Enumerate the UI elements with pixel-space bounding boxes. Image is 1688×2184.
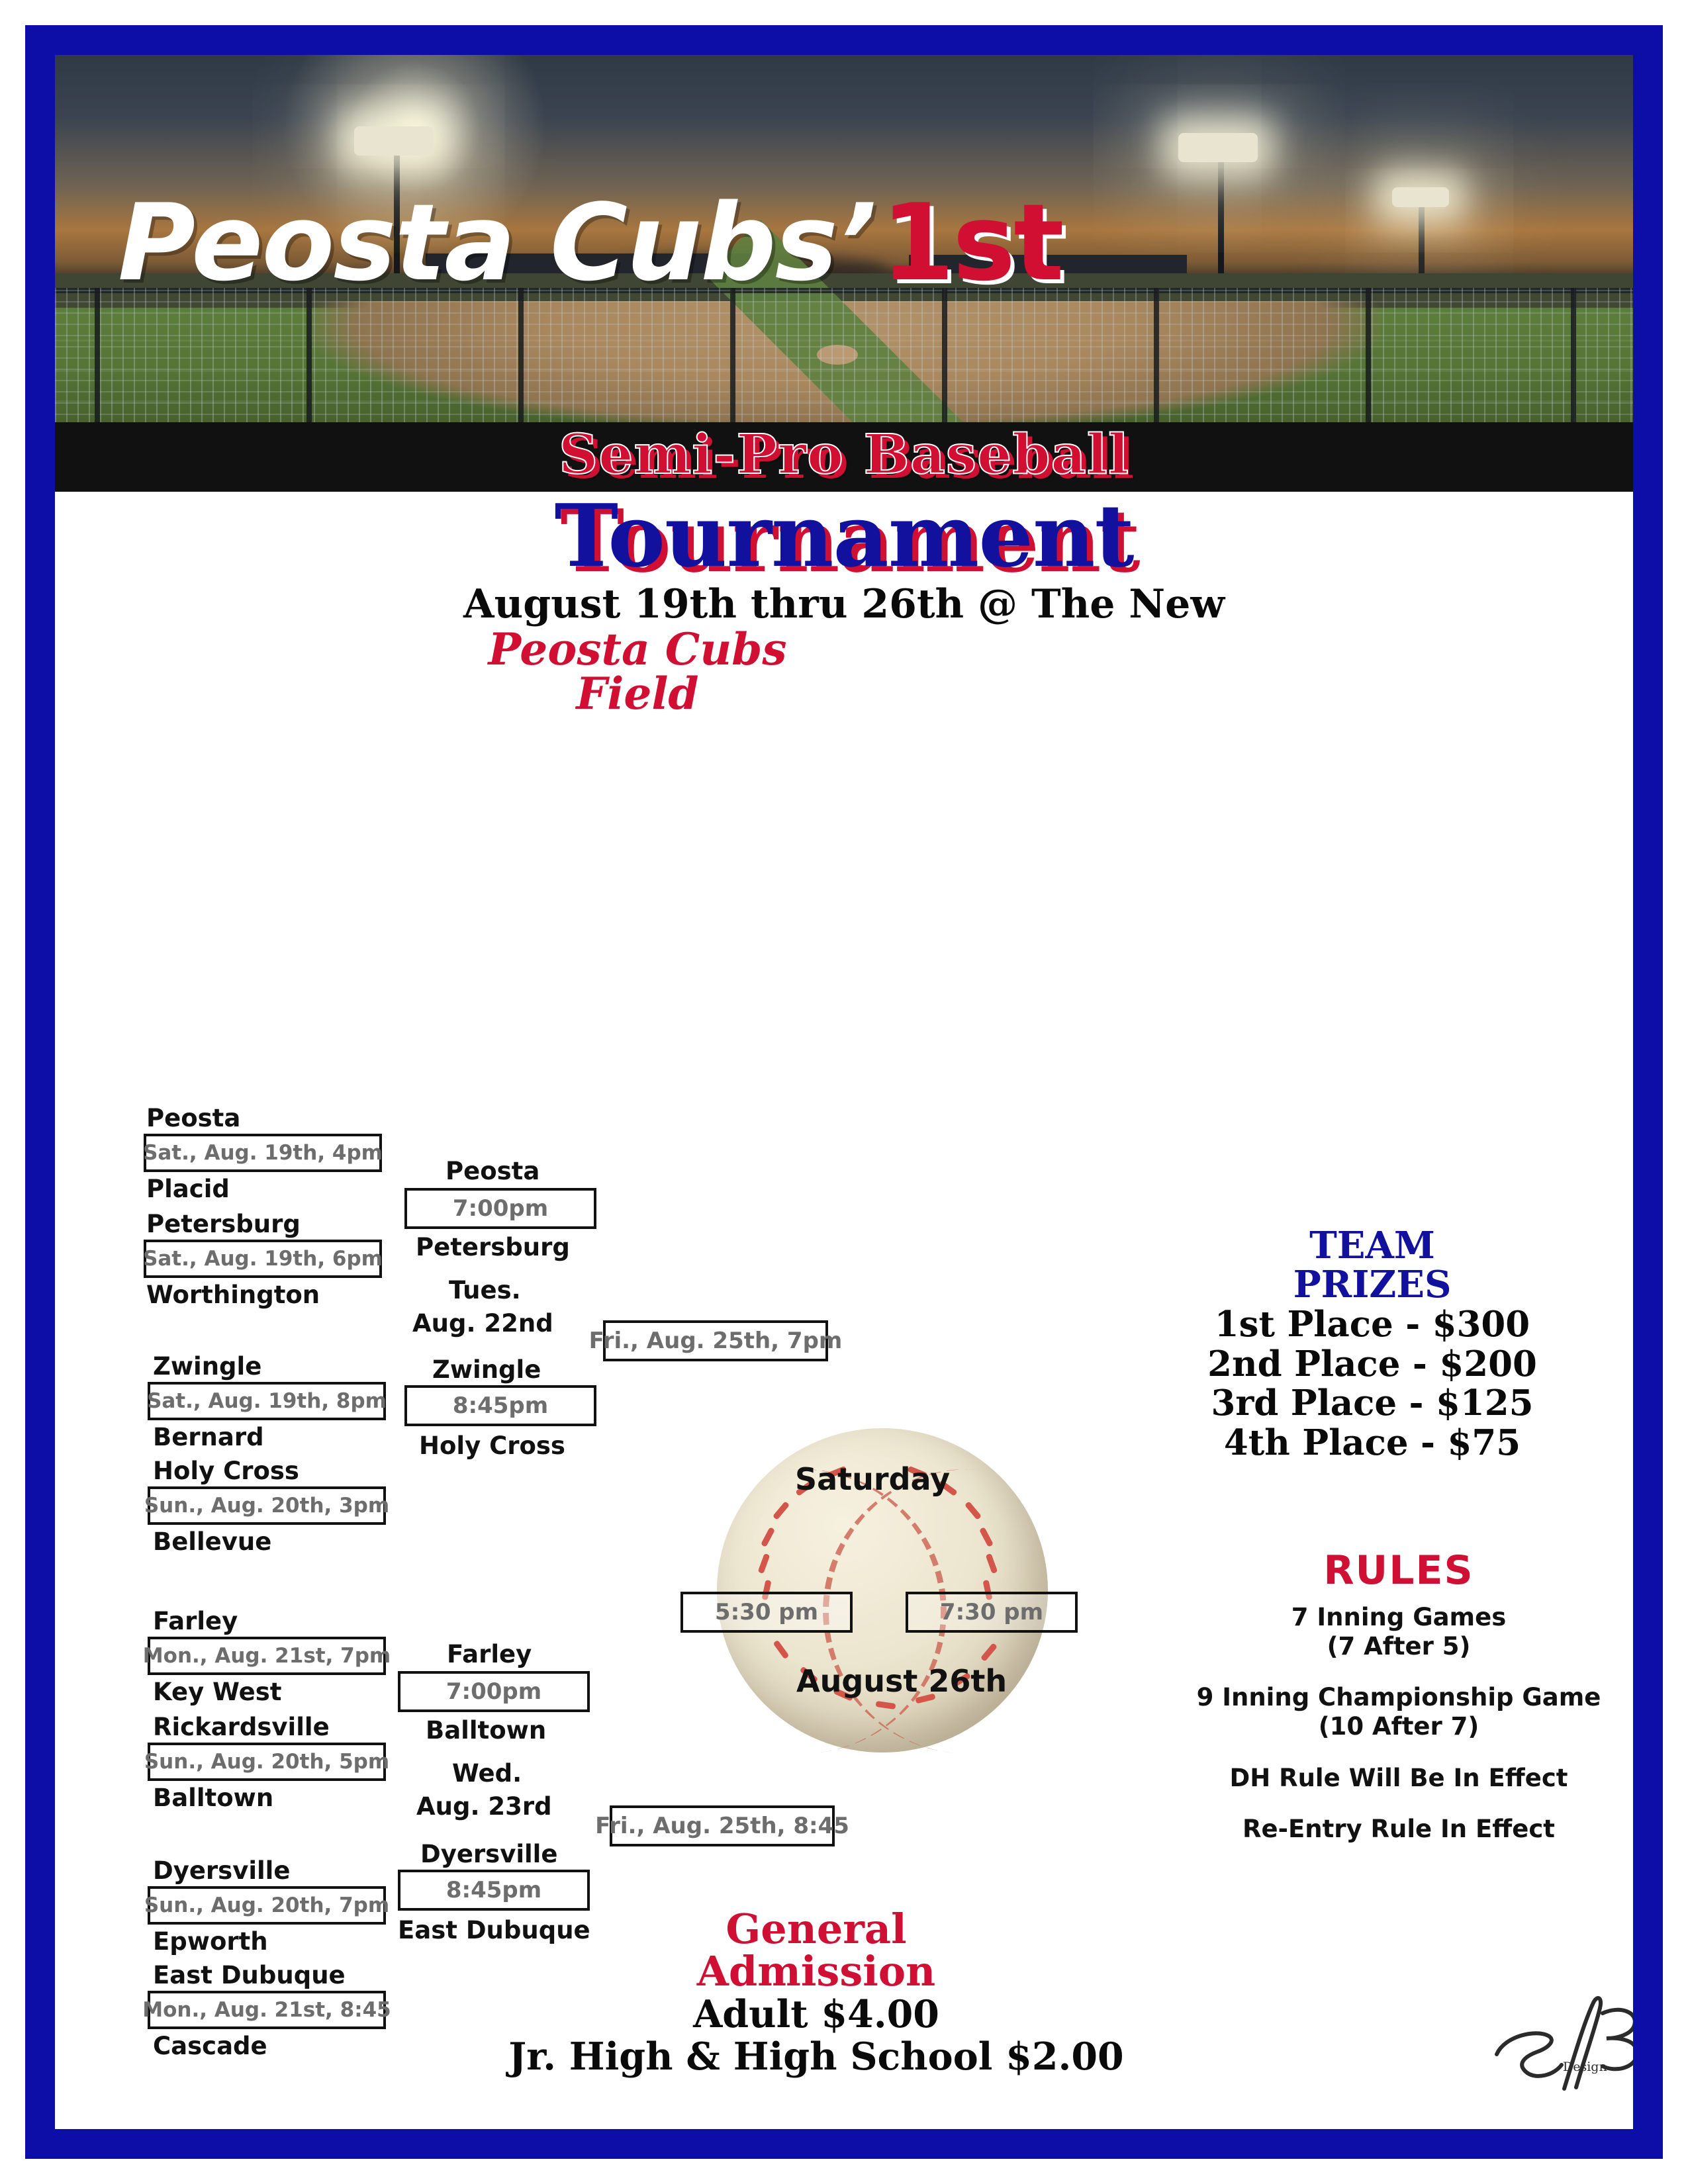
sb-script-icon	[1485, 1991, 1633, 2097]
admission-section: General Admission Adult $4.00 Jr. High &…	[426, 1908, 1207, 2078]
admission-adult-price: Adult $4.00	[426, 1993, 1207, 2036]
bracket-team: Zwingle	[432, 1355, 541, 1384]
bracket-game-box[interactable]: 7:00pm	[404, 1188, 596, 1229]
bracket-team: Peosta	[146, 1104, 240, 1132]
bracket-team: East Dubuque	[153, 1961, 346, 1989]
prize-row: 3rd Place - $125	[1141, 1384, 1604, 1424]
bracket-round-day: Tues.	[449, 1276, 521, 1304]
prizes-heading-line1: TEAM	[1141, 1226, 1604, 1265]
bracket-game-box[interactable]: Mon., Aug. 21st, 7pm	[148, 1637, 386, 1675]
bracket-team: Placid	[146, 1175, 230, 1203]
rule-item: DH Rule Will Be In Effect	[1154, 1764, 1633, 1793]
bracket-team: Cascade	[153, 2032, 267, 2060]
bracket-team: Holy Cross	[419, 1432, 565, 1460]
final-day-label: Saturday	[795, 1461, 950, 1497]
final-time-right-box[interactable]: 7:30 pm	[906, 1592, 1078, 1633]
bracket-team: Petersburg	[146, 1210, 301, 1238]
bracket-team: Farley	[153, 1607, 238, 1635]
admission-student-price: Jr. High & High School $2.00	[426, 2036, 1207, 2078]
bracket-game-box[interactable]: Sat., Aug. 19th, 8pm	[148, 1382, 386, 1420]
bracket-round-date: Aug. 23rd	[416, 1792, 552, 1821]
bracket-team: Petersburg	[416, 1233, 570, 1261]
bracket-game-box[interactable]: Sat., Aug. 19th, 4pm	[144, 1134, 382, 1172]
rule-item: Re-Entry Rule In Effect	[1154, 1815, 1633, 1844]
bracket-team: Peosta	[445, 1157, 539, 1185]
poster-title: Peosta Cubs’1st	[118, 181, 1062, 304]
bracket-team: Worthington	[146, 1281, 320, 1309]
rule-item: 7 Inning Games (7 After 5)	[1154, 1603, 1633, 1661]
poster-content: Peosta Cubs’1st Semi-Pro Baseball Tourna…	[55, 55, 1633, 2129]
team-prizes-section: TEAM PRIZES 1st Place - $300 2nd Place -…	[1141, 1226, 1604, 1463]
bracket-team: Dyersville	[153, 1856, 290, 1885]
subtitle-semi-pro: Semi-Pro Baseball	[55, 423, 1633, 486]
prize-row: 2nd Place - $200	[1141, 1345, 1604, 1385]
bracket-semifinal-box[interactable]: Fri., Aug. 25th, 7pm	[603, 1320, 828, 1361]
bracket-team: Balltown	[426, 1716, 546, 1745]
admission-heading-line1: General	[426, 1908, 1207, 1950]
bracket-semifinal-box[interactable]: Fri., Aug. 25th, 8:45	[610, 1805, 835, 1846]
designer-signature: Design	[1485, 1991, 1633, 2097]
bracket-round-date: Aug. 22nd	[412, 1309, 553, 1338]
bracket-game-box[interactable]: 8:45pm	[404, 1385, 596, 1426]
bracket-team: Key West	[153, 1678, 281, 1706]
prize-row: 4th Place - $75	[1141, 1424, 1604, 1463]
bracket-game-box[interactable]: Mon., Aug. 21st, 8:45	[148, 1991, 386, 2029]
rule-item: 9 Inning Championship Game (10 After 7)	[1154, 1683, 1633, 1741]
bracket-team: Farley	[447, 1640, 532, 1668]
bracket-game-box[interactable]: Sun., Aug. 20th, 5pm	[148, 1743, 386, 1781]
bracket-team: Bellevue	[153, 1527, 271, 1556]
bracket-game-box[interactable]: Sun., Aug. 20th, 7pm	[148, 1886, 386, 1925]
final-time-left-box[interactable]: 5:30 pm	[680, 1592, 853, 1633]
poster-blue-border: Peosta Cubs’1st Semi-Pro Baseball Tourna…	[25, 25, 1663, 2159]
admission-heading-line2: Admission	[426, 1950, 1207, 1993]
bracket-team: Bernard	[153, 1423, 264, 1451]
rules-section: RULES 7 Inning Games (7 After 5) 9 Innin…	[1154, 1547, 1633, 1844]
bracket-team: Epworth	[153, 1927, 268, 1956]
title-ordinal: 1st	[881, 181, 1062, 304]
bracket-game-box[interactable]: Sun., Aug. 20th, 3pm	[148, 1486, 386, 1525]
bracket-team: Dyersville	[420, 1840, 557, 1868]
final-date-label: August 26th	[796, 1663, 1007, 1699]
bracket-team: Rickardsville	[153, 1713, 330, 1741]
bracket-team: Balltown	[153, 1784, 273, 1812]
bracket-game-box[interactable]: Sat., Aug. 19th, 6pm	[144, 1240, 382, 1278]
prize-row: 1st Place - $300	[1141, 1305, 1604, 1345]
bracket-game-box[interactable]: 7:00pm	[398, 1671, 590, 1712]
signature-caption: Design	[1563, 2060, 1607, 2074]
title-main: Peosta Cubs’	[118, 181, 876, 304]
bracket-game-box[interactable]: 8:45pm	[398, 1870, 590, 1911]
bracket-round-day: Wed.	[452, 1759, 522, 1788]
rules-heading: RULES	[1154, 1547, 1633, 1594]
prizes-heading-line2: PRIZES	[1141, 1265, 1604, 1304]
bracket-team: Zwingle	[153, 1352, 261, 1381]
bracket-team: Holy Cross	[153, 1457, 299, 1485]
